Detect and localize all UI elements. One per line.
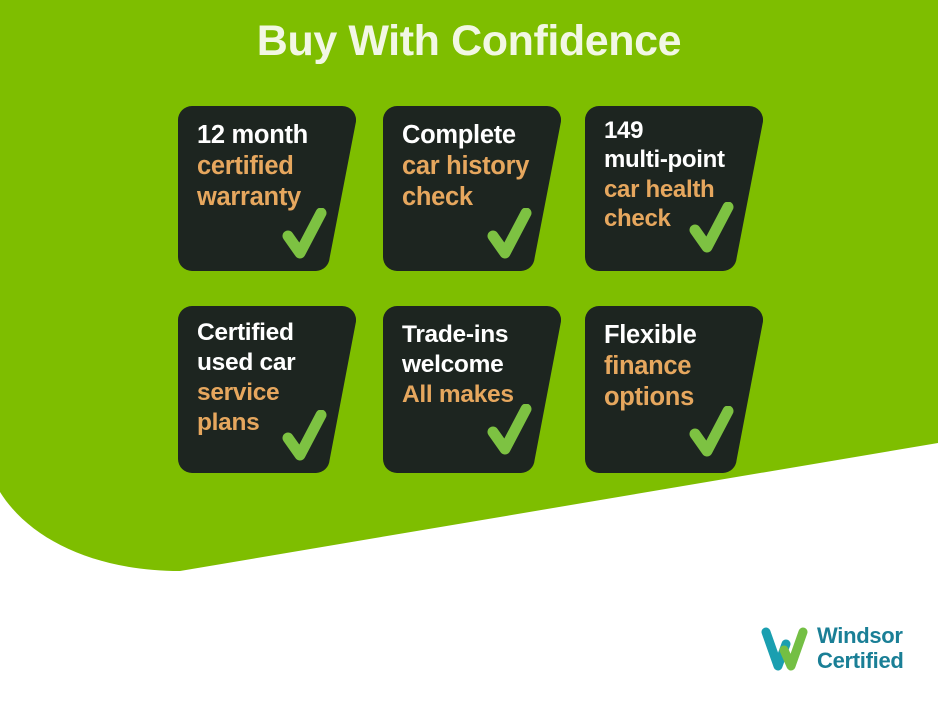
page-title: Buy With Confidence <box>0 18 938 65</box>
card-text: Flexible finance options <box>604 320 729 413</box>
card-car-history-check[interactable]: Complete car history check <box>383 106 561 271</box>
card-line: car history <box>402 151 527 182</box>
card-line: service <box>197 378 322 408</box>
card-line: Trade-ins <box>402 320 527 350</box>
card-line: Flexible <box>604 320 729 351</box>
card-line: 149 <box>604 116 729 145</box>
check-icon <box>689 406 735 460</box>
check-icon <box>487 404 533 458</box>
card-line: certified <box>197 151 322 182</box>
card-service-plans[interactable]: Certified used car service plans <box>178 306 356 473</box>
card-trade-ins[interactable]: Trade-ins welcome All makes <box>383 306 561 473</box>
card-line: finance <box>604 351 729 382</box>
card-line: used car <box>197 348 322 378</box>
check-icon <box>282 410 328 464</box>
check-icon <box>689 202 735 256</box>
card-multi-point-health-check[interactable]: 149 multi-point car health check <box>585 106 763 271</box>
logo-line-2: Certified <box>817 649 904 674</box>
card-line: car health <box>604 175 729 204</box>
windsor-certified-logo[interactable]: Windsor Certified <box>760 624 904 674</box>
card-text: 12 month certified warranty <box>197 120 322 213</box>
card-line: Complete <box>402 120 527 151</box>
poster-canvas: Buy With Confidence 12 month certified w… <box>0 0 938 704</box>
card-line: welcome <box>402 350 527 380</box>
logo-line-1: Windsor <box>817 624 904 649</box>
check-icon <box>282 208 328 262</box>
card-line: 12 month <box>197 120 322 151</box>
card-certified-warranty[interactable]: 12 month certified warranty <box>178 106 356 271</box>
windsor-w-icon <box>760 624 810 674</box>
card-text: Trade-ins welcome All makes <box>402 320 527 410</box>
logo-wordmark: Windsor Certified <box>817 624 904 673</box>
check-icon <box>487 208 533 262</box>
card-flexible-finance[interactable]: Flexible finance options <box>585 306 763 473</box>
card-line: Certified <box>197 318 322 348</box>
card-text: Complete car history check <box>402 120 527 213</box>
card-line: multi-point <box>604 145 729 174</box>
